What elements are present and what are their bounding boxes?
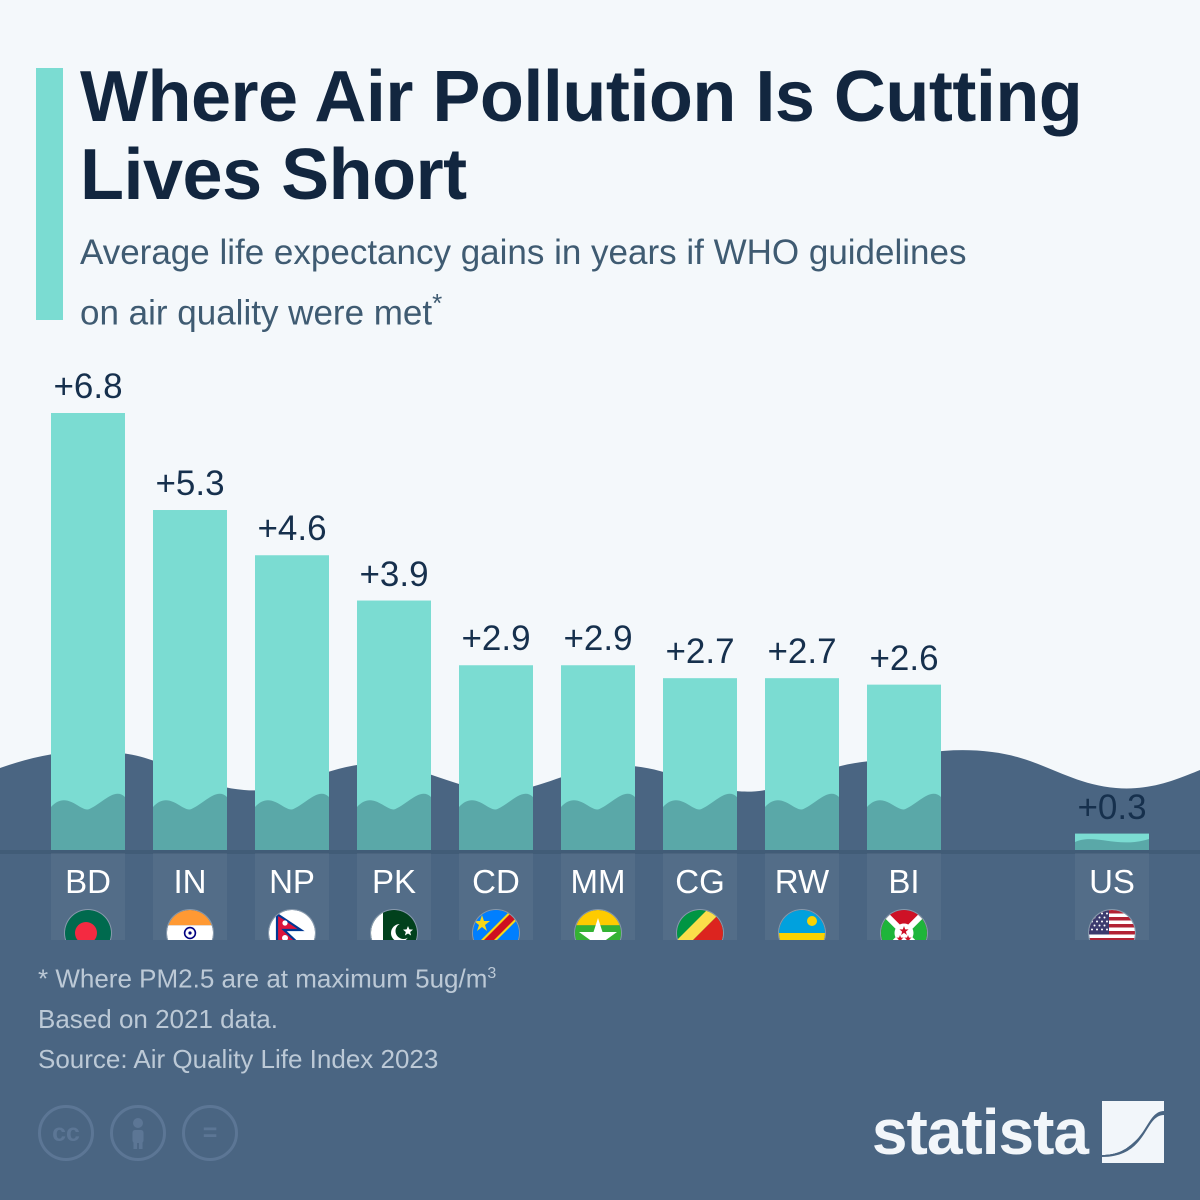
bar-value-label-in: +5.3 (153, 464, 227, 504)
page-subtitle: Average life expectancy gains in years i… (80, 228, 1140, 339)
bar-value-label-rw: +2.7 (765, 632, 839, 672)
accent-bar (36, 68, 63, 320)
infographic-root: Where Air Pollution Is Cutting Lives Sho… (0, 0, 1200, 1200)
country-code-in: IN (153, 863, 227, 901)
country-code-np: NP (255, 863, 329, 901)
footnote-1-superscript: 3 (487, 965, 496, 982)
subtitle-line-2: on air quality were met (80, 294, 432, 333)
creative-commons-icons: cc = (38, 1105, 238, 1161)
country-code-bi: BI (867, 863, 941, 901)
statista-mark-icon (1102, 1101, 1164, 1163)
attribution-person-icon[interactable] (110, 1105, 166, 1161)
bar-chart: +6.8+5.3+4.6+3.9+2.9+2.9+2.7+2.7+2.6+0.3… (0, 350, 1200, 950)
source-line: Source: Air Quality Life Index 2023 (38, 1039, 496, 1079)
country-code-pk: PK (357, 863, 431, 901)
bar-front-bd (51, 413, 125, 853)
cc-icon[interactable]: cc (38, 1105, 94, 1161)
bar-value-label-cg: +2.7 (663, 632, 737, 672)
footer: * Where PM2.5 are at maximum 5ug/m3 Base… (0, 940, 1200, 1200)
subtitle-line-1: Average life expectancy gains in years i… (80, 233, 966, 272)
country-code-bd: BD (51, 863, 125, 901)
footnote-2: Based on 2021 data. (38, 999, 496, 1039)
bar-value-label-pk: +3.9 (357, 555, 431, 595)
country-code-us: US (1075, 863, 1149, 901)
country-code-rw: RW (765, 863, 839, 901)
page-title: Where Air Pollution Is Cutting Lives Sho… (80, 58, 1150, 214)
no-derivatives-equals-icon[interactable]: = (182, 1105, 238, 1161)
footnotes: * Where PM2.5 are at maximum 5ug/m3 Base… (38, 954, 496, 1079)
country-code-cg: CG (663, 863, 737, 901)
footnote-1-text: * Where PM2.5 are at maximum 5ug/m (38, 964, 487, 994)
bar-value-label-bi: +2.6 (867, 639, 941, 679)
header: Where Air Pollution Is Cutting Lives Sho… (0, 0, 1200, 350)
bar-value-label-us: +0.3 (1075, 788, 1149, 828)
statista-wordmark: statista (872, 1100, 1088, 1164)
country-code-cd: CD (459, 863, 533, 901)
footnote-1: * Where PM2.5 are at maximum 5ug/m3 (38, 954, 496, 999)
statista-logo[interactable]: statista (872, 1100, 1164, 1164)
footnote-marker: * (432, 288, 442, 318)
bar-value-label-cd: +2.9 (459, 619, 533, 659)
bar-value-label-bd: +6.8 (51, 367, 125, 407)
country-code-mm: MM (561, 863, 635, 901)
bar-value-label-np: +4.6 (255, 509, 329, 549)
bar-value-label-mm: +2.9 (561, 619, 635, 659)
